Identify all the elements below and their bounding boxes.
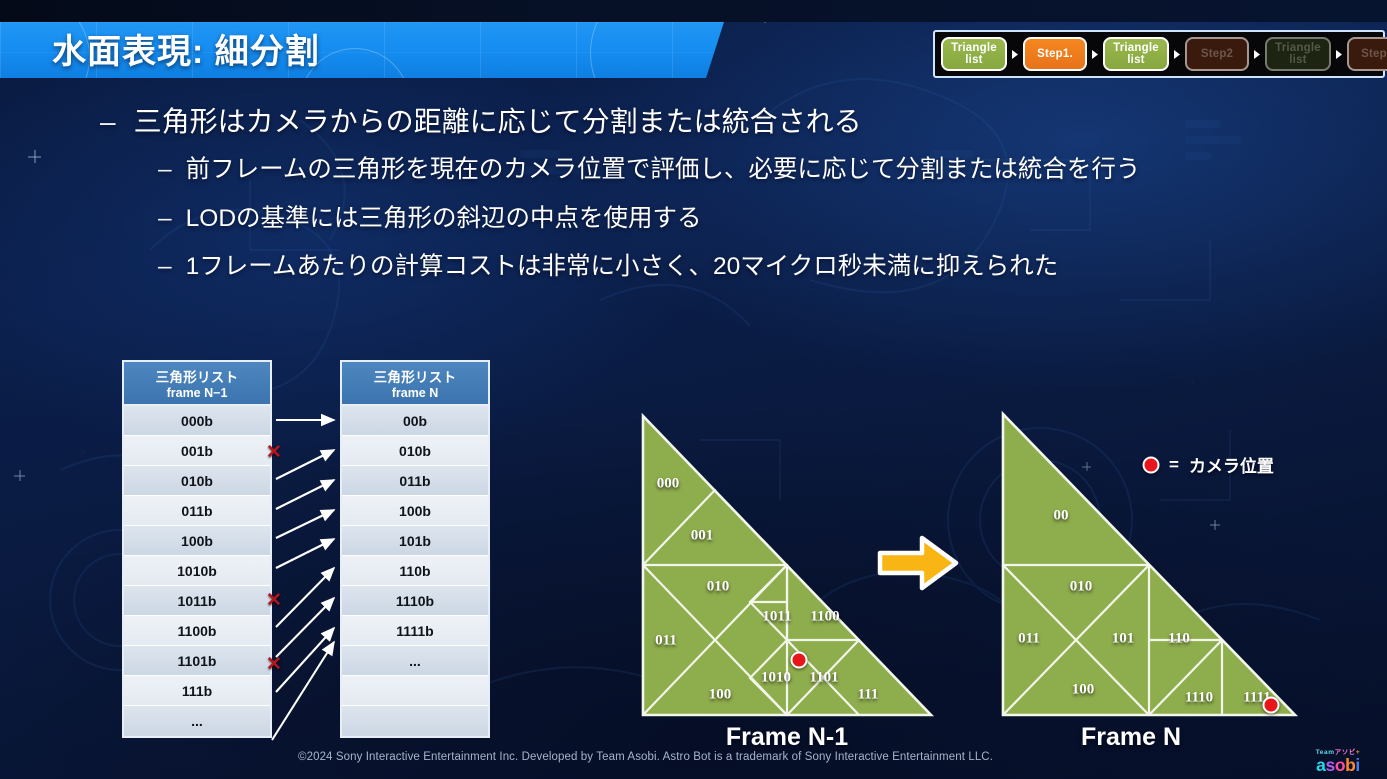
bullet-list: – 三角形はカメラからの距離に応じて分割または統合される – 前フレームの三角形… bbox=[100, 104, 1310, 284]
star-sparkle bbox=[28, 150, 41, 163]
table-row[interactable]: 011b bbox=[124, 496, 270, 526]
copyright-footer: ©2024 Sony Interactive Entertainment Inc… bbox=[298, 751, 993, 763]
table-row[interactable]: 1100b bbox=[124, 616, 270, 646]
table-row[interactable]: 010b bbox=[342, 436, 488, 466]
triangle-label: 00 bbox=[1054, 508, 1069, 525]
table-header-title: 三角形リスト bbox=[374, 366, 457, 386]
legend-camera-position: = カメラ位置 bbox=[1142, 452, 1274, 477]
table-row[interactable]: 1111b bbox=[342, 616, 488, 646]
camera-position-dot bbox=[1263, 697, 1280, 714]
table-row[interactable]: 010b bbox=[124, 466, 270, 496]
row-removed-x-icon: ✕ bbox=[266, 655, 282, 674]
chip-label-line1: Step1. bbox=[1037, 48, 1073, 60]
table-row[interactable]: ... bbox=[124, 706, 270, 736]
triangle-label: 1101 bbox=[809, 670, 838, 687]
table-row[interactable] bbox=[342, 706, 488, 736]
chip-label-line2: list bbox=[965, 54, 982, 66]
chip-label-line1: Step3. bbox=[1361, 48, 1387, 60]
table-row[interactable]: 001b bbox=[124, 436, 270, 466]
chevron-right-icon bbox=[1169, 49, 1185, 60]
legend-equals: = bbox=[1169, 455, 1179, 475]
bullet-level2-1: – 前フレームの三角形を現在のカメラ位置で評価し、必要に応じて分割または統合を行… bbox=[158, 154, 1310, 187]
triangle-label: 1110 bbox=[1185, 690, 1213, 707]
chip-label-line1: Triangle bbox=[1113, 42, 1159, 54]
chevron-right-icon bbox=[1249, 49, 1265, 60]
triangle-label: 1010 bbox=[761, 670, 791, 687]
bullet-level2-text: 前フレームの三角形を現在のカメラ位置で評価し、必要に応じて分割または統合を行う bbox=[186, 154, 1141, 187]
frame-caption-prev: Frame N-1 bbox=[726, 723, 848, 752]
chip-triangle-list-3[interactable]: Triangle list bbox=[1265, 37, 1331, 71]
triangle-label: 111 bbox=[858, 687, 879, 704]
transition-arrow bbox=[876, 534, 960, 597]
chevron-right-icon bbox=[1087, 49, 1103, 60]
table-row[interactable]: 110b bbox=[342, 556, 488, 586]
logo-wordmark: asobi bbox=[1316, 757, 1360, 775]
triangle-list-table-next: 三角形リスト frame N 00b 010b 011b 100b 101b 1… bbox=[340, 360, 490, 738]
table-header-title: 三角形リスト bbox=[156, 366, 239, 386]
triangle-label: 010 bbox=[1070, 579, 1093, 596]
camera-dot-icon bbox=[1142, 456, 1159, 473]
table-header-prev: 三角形リスト frame N−1 bbox=[124, 362, 270, 406]
chevron-right-icon bbox=[1331, 49, 1347, 60]
table-row[interactable]: 00b bbox=[342, 406, 488, 436]
chip-step2[interactable]: Step2 bbox=[1185, 37, 1249, 71]
chip-label-line1: Triangle bbox=[951, 42, 997, 54]
chip-label-line2: list bbox=[1127, 54, 1144, 66]
triangle-label: 100 bbox=[1072, 682, 1095, 699]
triangle-label: 110 bbox=[1168, 631, 1190, 648]
triangle-label: 1011 bbox=[762, 609, 791, 626]
table-header-subtitle: frame N bbox=[392, 386, 439, 400]
chip-triangle-list-2[interactable]: Triangle list bbox=[1103, 37, 1169, 71]
table-row[interactable] bbox=[342, 676, 488, 706]
logo-letter: s bbox=[1325, 755, 1334, 775]
bullet-level2-text: LODの基準には三角形の斜辺の中点を使用する bbox=[186, 203, 702, 236]
triangle-label: 1100 bbox=[810, 609, 839, 626]
table-row[interactable]: 1010b bbox=[124, 556, 270, 586]
table-header-subtitle: frame N−1 bbox=[167, 386, 228, 400]
triangle-label: 010 bbox=[707, 579, 730, 596]
table-row[interactable]: 100b bbox=[124, 526, 270, 556]
triangle-label: 011 bbox=[1018, 631, 1040, 648]
chip-label-line1: Triangle bbox=[1275, 42, 1321, 54]
triangle-label: 101 bbox=[1112, 631, 1135, 648]
frame-caption-next: Frame N bbox=[1081, 723, 1181, 752]
chip-label-line2: list bbox=[1289, 54, 1306, 66]
bullet-dash: – bbox=[100, 104, 116, 140]
bullet-level2-3: – 1フレームあたりの計算コストは非常に小さく、20マイクロ秒未満に抑えられた bbox=[158, 251, 1310, 284]
row-removed-x-icon: ✕ bbox=[266, 443, 282, 462]
table-row[interactable]: 111b bbox=[124, 676, 270, 706]
logo-letter: i bbox=[1355, 755, 1359, 775]
table-row[interactable]: 100b bbox=[342, 496, 488, 526]
table-row[interactable]: 000b bbox=[124, 406, 270, 436]
legend-label: カメラ位置 bbox=[1189, 452, 1274, 477]
logo-letter: o bbox=[1335, 755, 1345, 775]
table-row[interactable]: 011b bbox=[342, 466, 488, 496]
row-removed-x-icon: ✕ bbox=[266, 591, 282, 610]
top-strip bbox=[0, 0, 1387, 22]
bullet-level1: – 三角形はカメラからの距離に応じて分割または統合される bbox=[100, 104, 1310, 140]
bullet-dash: – bbox=[158, 154, 172, 187]
triangle-label: 000 bbox=[657, 476, 680, 493]
bullet-level2-text: 1フレームあたりの計算コストは非常に小さく、20マイクロ秒未満に抑えられた bbox=[186, 251, 1059, 284]
bullet-dash: – bbox=[158, 251, 172, 284]
table-row[interactable]: 1101b bbox=[124, 646, 270, 676]
table-row[interactable]: 101b bbox=[342, 526, 488, 556]
slide-canvas: 水面表現: 細分割 Triangle list Step1. Triangle … bbox=[0, 0, 1387, 779]
bullet-level1-text: 三角形はカメラからの距離に応じて分割または統合される bbox=[134, 104, 862, 140]
chip-step3[interactable]: Step3. bbox=[1347, 37, 1387, 71]
triangle-list-table-prev: 三角形リスト frame N−1 000b 001b 010b 011b 100… bbox=[122, 360, 272, 738]
table-row[interactable]: 1110b bbox=[342, 586, 488, 616]
camera-position-dot bbox=[791, 652, 808, 669]
chip-label-line1: Step2 bbox=[1201, 48, 1233, 60]
bullet-level2-2: – LODの基準には三角形の斜辺の中点を使用する bbox=[158, 203, 1310, 236]
triangle-label: 001 bbox=[691, 528, 714, 545]
chevron-right-icon bbox=[1007, 49, 1023, 60]
table-row[interactable]: ... bbox=[342, 646, 488, 676]
bullet-dash: – bbox=[158, 203, 172, 236]
logo-letter: b bbox=[1345, 755, 1355, 775]
table-row[interactable]: 1011b bbox=[124, 586, 270, 616]
team-asobi-logo: Teamアソビ+ asobi bbox=[1296, 748, 1380, 776]
star-sparkle bbox=[14, 470, 25, 481]
pipeline-progress-bar: Triangle list Step1. Triangle list Step2… bbox=[933, 30, 1385, 78]
chip-triangle-list-1[interactable]: Triangle list bbox=[941, 37, 1007, 71]
chip-step1[interactable]: Step1. bbox=[1023, 37, 1087, 71]
triangle-label: 100 bbox=[709, 687, 732, 704]
table-header-next: 三角形リスト frame N bbox=[342, 362, 488, 406]
page-title: 水面表現: 細分割 bbox=[52, 24, 320, 73]
triangle-label: 011 bbox=[655, 633, 677, 650]
